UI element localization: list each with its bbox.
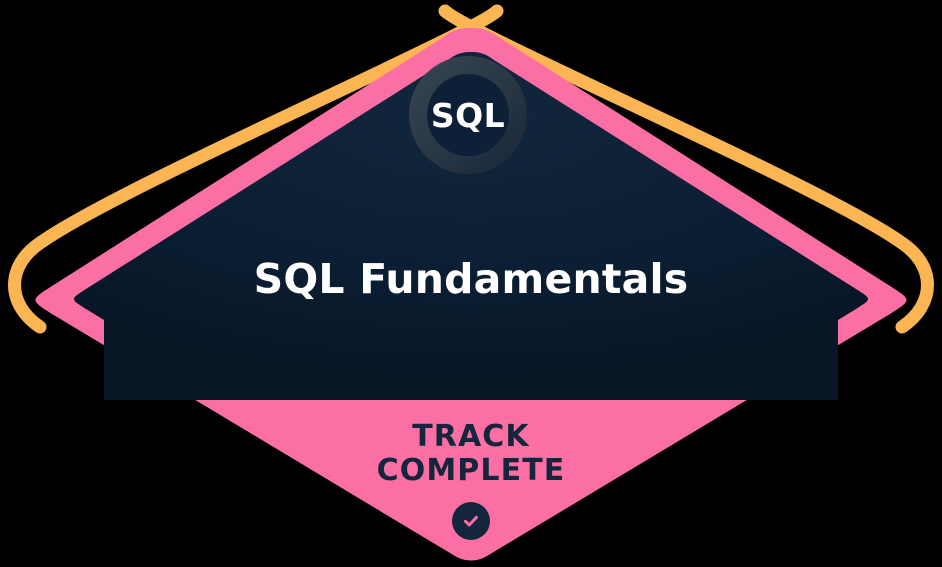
status-check-wrapper — [0, 502, 942, 540]
check-mark-icon — [460, 510, 482, 532]
sql-emblem-label: SQL — [431, 99, 505, 132]
status-line-track: TRACK — [0, 420, 942, 454]
completion-check-badge — [452, 502, 490, 540]
track-title: SQL Fundamentals — [0, 256, 942, 303]
status-line-complete: COMPLETE — [0, 454, 942, 488]
sql-emblem: SQL — [409, 56, 527, 174]
track-status: TRACK COMPLETE — [0, 420, 942, 540]
track-completion-badge: SQL SQL Fundamentals TRACK COMPLETE — [0, 0, 942, 567]
